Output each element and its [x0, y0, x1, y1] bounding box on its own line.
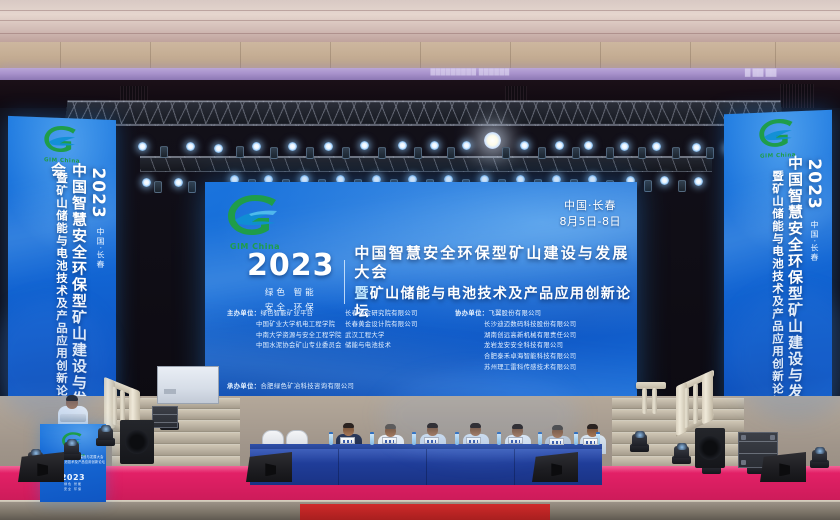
moving-head-light	[630, 430, 649, 452]
coorganizer-item: 湖南创远高新机械有限责任公司	[484, 332, 576, 339]
organizer-item: 绿色智能矿业平台	[260, 310, 313, 317]
podium-slogan-2: 安全 环保	[40, 487, 106, 492]
water-bottle	[574, 432, 578, 445]
coorganizer-item: 龙岩龙安安全科技有限公司	[484, 342, 563, 349]
coorganizer-item: 长沙迪迈数码科技股份有限公司	[484, 321, 576, 328]
organizer-item: 储能与电池技术	[345, 342, 391, 349]
ceiling-led-text: ██████ █████████	[430, 69, 509, 76]
moving-head-light	[62, 438, 81, 460]
lighting-truss-upper	[64, 100, 783, 126]
stage-monitor-wedge	[246, 452, 292, 482]
flight-case-left	[152, 406, 178, 428]
screen-title-main: 中国智慧安全环保型矿山建设与发展大会	[354, 244, 637, 282]
screen-location-block: 中国·长春 8月5日-8日	[560, 198, 621, 230]
ceiling-led-text-right: ██ ██ █	[745, 69, 776, 77]
sponsors-organizer-col1: 主办单位：绿色智能矿业平台 中国矿业大学机电工程学院 中南大学资源与安全工程学院…	[227, 309, 345, 374]
banner-right-location: 中国·长春	[809, 220, 820, 263]
sponsors-organizer-col2: 长春黄金研究院有限公司 长春黄金设计院有限公司 武汉工程大学 储能与电池技术	[345, 309, 455, 374]
screen-location-dates: 8月5日-8日	[560, 214, 621, 230]
name-card	[583, 438, 598, 445]
title-divider	[344, 260, 346, 304]
red-carpet-runner	[300, 504, 550, 520]
banner-left-location: 中国·长春	[95, 227, 106, 269]
moving-head-light	[810, 446, 829, 468]
host-label: 承办单位：	[227, 383, 260, 390]
banner-left-year: 2023	[88, 167, 108, 219]
stage-confidence-monitor	[157, 366, 219, 404]
host-value: 合肥绿色矿冶科技咨询有限公司	[260, 383, 354, 390]
name-card	[340, 437, 355, 444]
subwoofer-speaker	[695, 428, 725, 468]
water-bottle	[370, 432, 374, 445]
coorganizer-item: 合肥泰禾卓海智能科技有限公司	[484, 353, 576, 360]
gim-logo-svg-right	[753, 116, 803, 154]
gim-china-logo: GIM China	[219, 192, 291, 244]
subwoofer-speaker	[120, 420, 154, 464]
lighting-truss-lower	[140, 156, 712, 172]
chair	[286, 430, 308, 445]
banner-left-logo: GIM China	[38, 123, 86, 165]
banner-right-logo: GIM China	[753, 116, 803, 160]
screen-title-sub-prefix: 暨	[354, 286, 369, 302]
organizer-item: 长春黄金设计院有限公司	[345, 321, 418, 328]
ceiling	[0, 0, 840, 66]
organizer-label: 主办单位：	[227, 310, 260, 317]
main-led-screen: GIM China 中国·长春 8月5日-8日 2023 绿色 智能 安全 环保…	[205, 182, 637, 404]
organizer-item: 武汉工程大学	[345, 332, 385, 339]
stage-glow-center	[380, 370, 580, 460]
screen-location-place: 中国·长春	[560, 198, 621, 214]
sponsors-coorganizer-col: 协办单位：飞翼股份有限公司 长沙迪迈数码科技股份有限公司 湖南创远高新机械有限责…	[455, 309, 576, 374]
organizer-item: 中国水泥协会矿山专业委员会	[256, 342, 342, 349]
water-bottle	[329, 432, 333, 445]
ceiling-cornice	[0, 42, 840, 70]
moving-head-light	[672, 442, 691, 464]
stage-photograph: ██████ █████████ ██ ██ █	[0, 0, 840, 520]
organizer-item: 中国矿业大学机电工程学院	[256, 321, 335, 328]
organizer-item: 长春黄金研究院有限公司	[345, 310, 418, 317]
banner-right-year: 2023	[804, 158, 824, 210]
screen-year: 2023	[247, 251, 335, 281]
stage-monitor-wedge	[532, 452, 578, 482]
moving-head-light	[96, 424, 115, 446]
coorganizer-item: 飞翼股份有限公司	[488, 310, 541, 317]
screen-year-column: 2023 绿色 智能 安全 环保	[247, 251, 344, 313]
stage-monitor-wedge	[18, 452, 64, 482]
chair	[262, 430, 284, 445]
coorganizer-label: 协办单位：	[455, 310, 488, 317]
gim-logo-svg-left	[38, 123, 86, 159]
stage-monitor-wedge	[760, 452, 806, 482]
organizer-item: 中南大学资源与安全工程学院	[256, 332, 342, 339]
screen-slogan-1: 绿色 智能	[247, 286, 335, 298]
gim-logo-svg	[219, 192, 291, 244]
ceiling-led-strip	[0, 68, 840, 80]
